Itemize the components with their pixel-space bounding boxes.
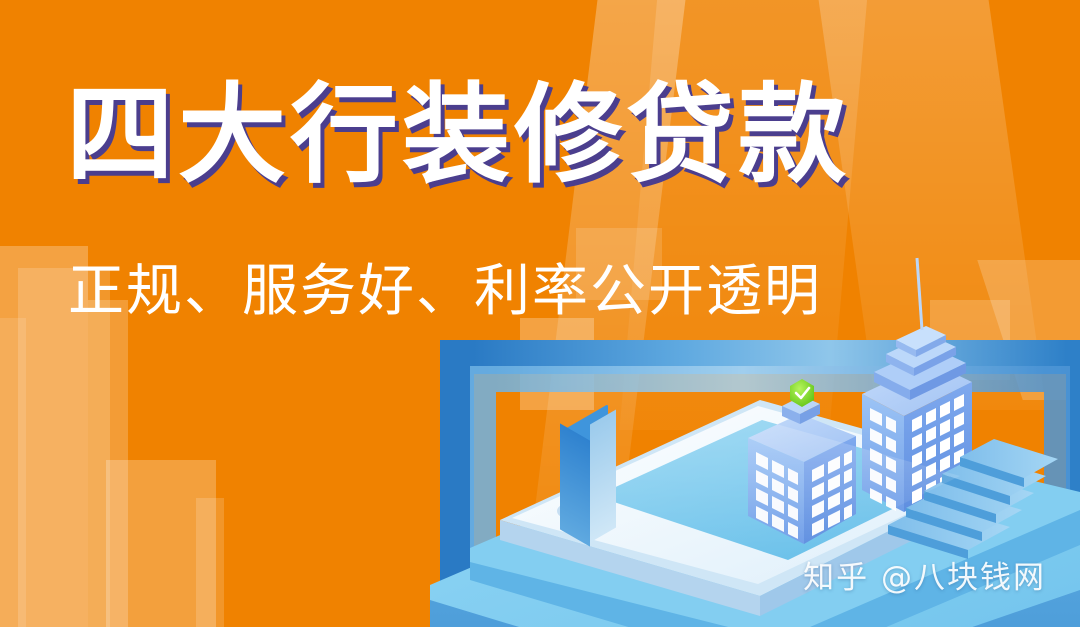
platform-slab-lower (430, 452, 1080, 627)
ghost-building (88, 300, 128, 627)
check-icon (796, 388, 809, 398)
tall-building-windows-right (912, 394, 964, 504)
promo-banner: 四大行装修贷款 正规、服务好、利率公开透明 知乎 @八块钱网 (0, 0, 1080, 627)
page-title: 四大行装修贷款 (66, 82, 850, 190)
light-beam (977, 260, 1080, 400)
phone-screen (596, 420, 960, 560)
small-building-windows-right (812, 450, 852, 536)
ghost-building (0, 318, 26, 627)
light-beam (619, 0, 870, 430)
tall-building-windows-left (870, 408, 896, 511)
screen-glow (596, 420, 960, 560)
page-subtitle: 正规、服务好、利率公开透明 (68, 264, 822, 320)
ghost-building (196, 498, 224, 627)
green-check-badge (790, 379, 814, 407)
staircase (888, 439, 1058, 559)
light-beam (520, 318, 594, 410)
small-building-windows-left (756, 452, 798, 539)
roof-box-top (782, 396, 820, 414)
mini-tower-right (590, 409, 616, 542)
watermark: 知乎 @八块钱网 (803, 552, 1046, 597)
ghost-building (106, 460, 216, 627)
small-building (748, 396, 856, 544)
mini-tower-left (560, 423, 590, 546)
mini-tower (560, 418, 630, 538)
light-beam (816, 0, 1046, 410)
antenna-icon (917, 258, 922, 330)
light-beam (930, 300, 1010, 380)
tall-building (862, 258, 972, 512)
